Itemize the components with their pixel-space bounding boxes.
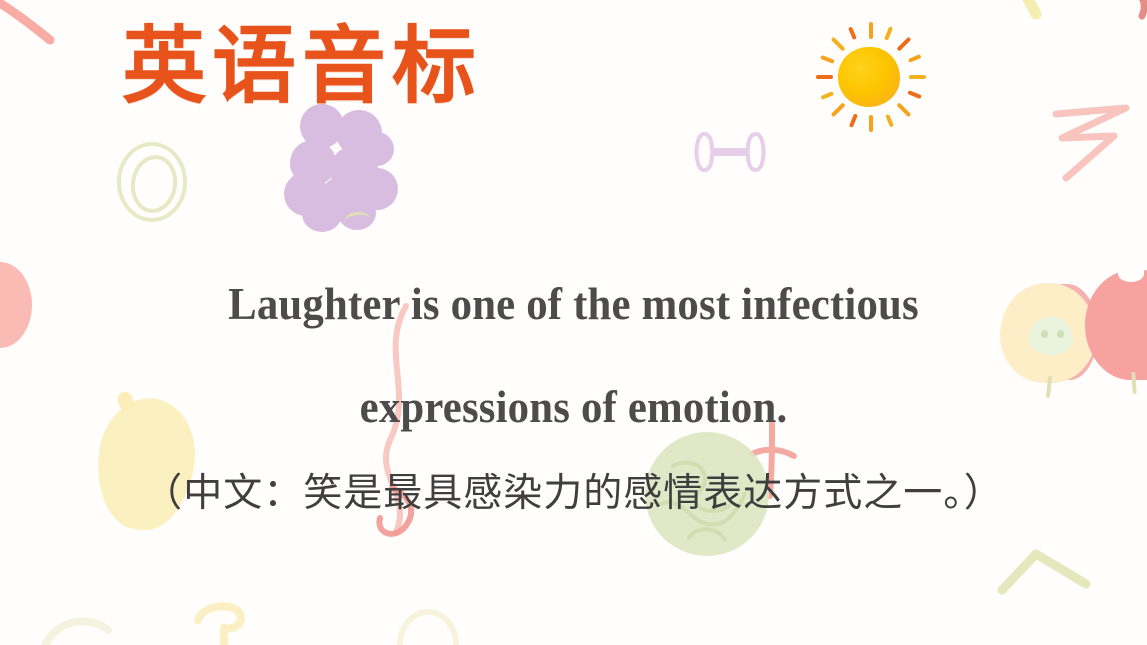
pink-brush-stroke-decoration [0,0,78,62]
sun-core-icon [838,47,900,107]
quote-line-2: expressions of emotion. [40,355,1107,458]
green-ring-decoration [114,140,194,224]
grape-stem-icon [343,210,371,230]
quote-block: Laughter is one of the most infectious e… [0,252,1147,458]
cream-ring-decoration [392,606,466,645]
pale-green-arc-decoration [36,600,126,645]
page-title: 英语音标 [122,20,482,117]
pink-zigzag-decoration [1034,66,1146,182]
slide-canvas: 英语音标 Laughter is one of the most infecti… [0,0,1147,645]
green-chevron-decoration [990,540,1110,610]
yellow-mark-decoration [1004,0,1064,30]
dumbbell-decoration [690,128,776,180]
quote-line-1: Laughter is one of the most infectious [40,252,1107,355]
yellow-hook-decoration [190,598,270,645]
red-arc-decoration [1120,0,1147,32]
translation-text: （中文：笑是最具感染力的感情表达方式之一。） [0,462,1147,518]
